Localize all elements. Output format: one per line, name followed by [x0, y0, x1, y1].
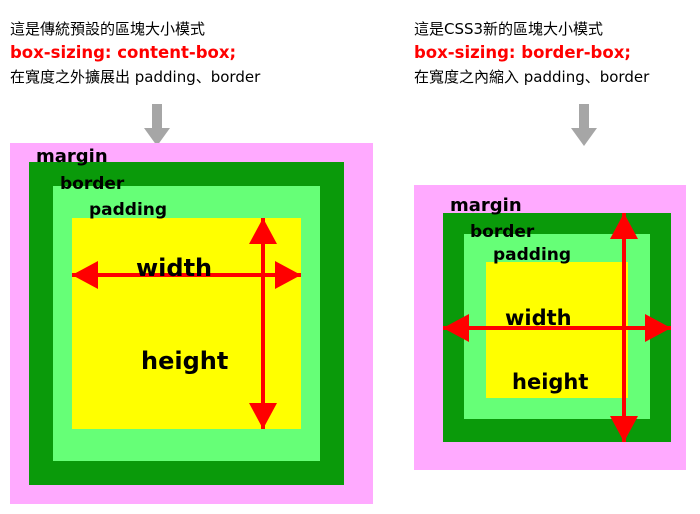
height-arrow-head-top: [249, 218, 277, 244]
caption-line-description-bottom: 在寬度之內縮入 padding、border: [414, 65, 649, 89]
height-dimension-arrow: [249, 218, 277, 429]
height-arrow-line: [261, 218, 265, 429]
width-arrow-head-left: [72, 261, 98, 289]
margin-label: margin: [450, 197, 522, 215]
caption-content-box: 這是傳統預設的區塊大小模式 box-sizing: content-box; 在…: [10, 18, 260, 89]
down-arrow-shaft: [579, 104, 589, 130]
caption-border-box: 這是CSS3新的區塊大小模式 box-sizing: border-box; 在…: [414, 18, 649, 89]
height-arrow-head-bottom: [610, 416, 638, 442]
width-arrow-head-right: [275, 261, 301, 289]
box-model-diagram-border-box: margin border padding width height: [414, 185, 686, 470]
down-arrow-shaft: [152, 104, 162, 130]
caption-line-code: box-sizing: content-box;: [10, 40, 260, 65]
padding-label: padding: [89, 202, 167, 219]
height-label: height: [512, 372, 588, 393]
width-label: width: [505, 308, 572, 329]
border-label: border: [470, 224, 534, 241]
down-arrow-icon: [144, 104, 170, 146]
padding-label: padding: [493, 247, 571, 264]
caption-line-description-top: 這是CSS3新的區塊大小模式: [414, 18, 649, 40]
caption-line-description-top: 這是傳統預設的區塊大小模式: [10, 18, 260, 40]
caption-line-description-bottom: 在寬度之外擴展出 padding、border: [10, 65, 260, 89]
width-arrow-head-left: [443, 314, 469, 342]
down-arrow-icon: [571, 104, 597, 146]
margin-label: margin: [36, 148, 108, 166]
down-arrow-head: [571, 128, 597, 146]
width-arrow-head-right: [645, 314, 671, 342]
height-label: height: [141, 349, 228, 373]
width-label: width: [136, 256, 212, 280]
height-arrow-head-bottom: [249, 403, 277, 429]
box-model-diagram-content-box: margin border padding width height: [10, 143, 373, 504]
height-arrow-line: [622, 213, 626, 442]
border-label: border: [60, 176, 124, 193]
caption-line-code: box-sizing: border-box;: [414, 40, 649, 65]
height-arrow-head-top: [610, 213, 638, 239]
height-dimension-arrow: [610, 213, 638, 442]
